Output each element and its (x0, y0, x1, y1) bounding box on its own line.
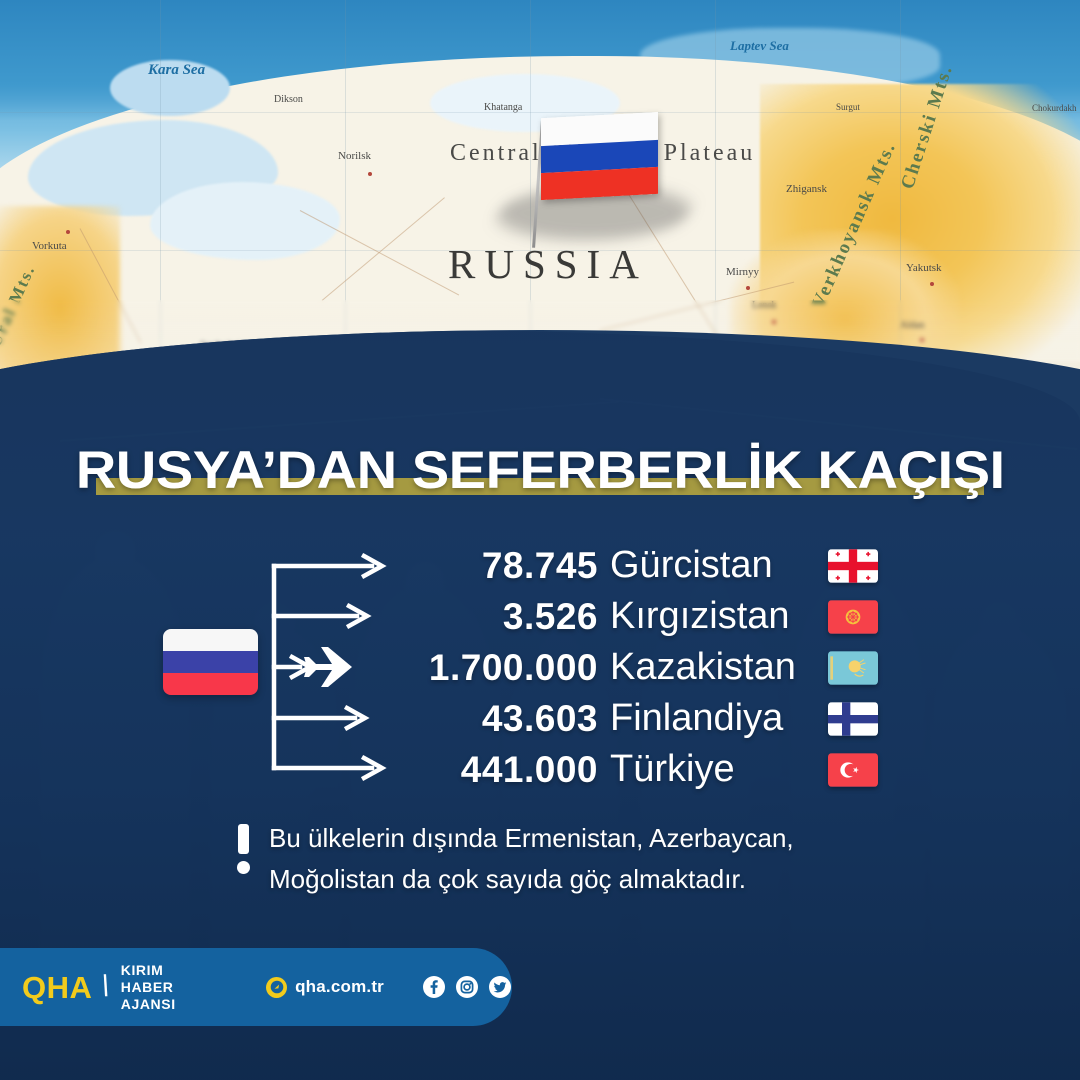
map-city-dot (746, 286, 750, 290)
russia-flag-pin-icon (541, 112, 658, 200)
map-gridline (0, 112, 1080, 113)
row-country: Kırgızistan (610, 595, 790, 638)
map-label-chokurdakh: Chokurdakh (1032, 103, 1077, 113)
agency-line-1: KIRIM (121, 962, 222, 979)
row-value: 3.526 (503, 596, 598, 638)
map-city-dot (66, 230, 70, 234)
map-city-dot (368, 172, 372, 176)
map-label-laptev-sea: Laptev Sea (730, 38, 789, 54)
page-title: RUSYA’DAN SEFERBERLİK KAÇIŞI (76, 440, 1005, 501)
map-label-norilsk: Norilsk (338, 150, 371, 162)
table-row: 78.745 Gürcistan (0, 540, 1080, 591)
turkey-flag-icon (828, 753, 878, 787)
instagram-icon[interactable] (455, 975, 479, 999)
map-label-mirnyy: Mirnyy (726, 266, 759, 278)
finland-flag-icon (828, 702, 878, 736)
georgia-flag-icon (828, 549, 878, 583)
map-label-vorkuta: Vorkuta (32, 240, 67, 252)
agency-line-2: HABER AJANSI (121, 979, 222, 1013)
row-value: 1.700.000 (429, 647, 598, 689)
row-value: 441.000 (461, 749, 598, 791)
country-rows: 78.745 Gürcistan 3.526 Kırgızist (0, 540, 1080, 795)
website-text: qha.com.tr (295, 977, 384, 997)
sea-inlet-2 (150, 182, 340, 260)
social-links (422, 975, 512, 999)
map-label-khatanga: Khatanga (484, 102, 522, 113)
title-block: RUSYA’DAN SEFERBERLİK KAÇIŞI (0, 440, 1080, 501)
row-value: 78.745 (482, 545, 598, 587)
globe-arrow-icon (266, 977, 287, 998)
map-label-russia: RUSSIA (448, 240, 648, 288)
map-label-zhigansk: Zhigansk (786, 183, 827, 195)
table-row: 441.000 Türkiye (0, 744, 1080, 795)
row-value: 43.603 (482, 698, 598, 740)
table-row: 43.603 Finlandiya (0, 693, 1080, 744)
map-label-dikson: Dikson (274, 94, 303, 105)
agency-name: KIRIM HABER AJANSI (121, 962, 222, 1013)
row-country: Finlandiya (610, 697, 783, 740)
twitter-icon[interactable] (488, 975, 512, 999)
qha-logo[interactable]: QHA (22, 972, 92, 1003)
map-label-srednekolymsk: Surgut (836, 102, 860, 112)
row-country: Gürcistan (610, 544, 773, 587)
footnote-line-1: Bu ülkelerin dışında Ermenistan, Azerbay… (269, 818, 936, 859)
map-city-dot (930, 282, 934, 286)
footnote-block: Bu ülkelerin dışında Ermenistan, Azerbay… (236, 818, 936, 900)
table-row: 3.526 Kırgızistan (0, 591, 1080, 642)
row-country: Kazakistan (610, 646, 796, 689)
map-label-kara-sea: Kara Sea (148, 62, 205, 79)
row-country: Türkiye (610, 748, 735, 791)
facebook-icon[interactable] (422, 975, 446, 999)
logo-divider: \ (98, 970, 114, 1004)
map-label-yakutsk: Yakutsk (906, 262, 942, 274)
footnote-line-2: Moğolistan da çok sayıda göç almaktadır. (269, 859, 936, 900)
kyrgyzstan-flag-icon (828, 600, 878, 634)
infographic-root: Kara Sea Laptev Sea Norilsk Vorkuta Diks… (0, 0, 1080, 1080)
kazakhstan-flag-icon (828, 651, 878, 685)
footer-bar: QHA \ KIRIM HABER AJANSI qha.com.tr (0, 948, 512, 1026)
website-link[interactable]: qha.com.tr (266, 977, 384, 998)
exclamation-icon (236, 824, 250, 874)
table-row: 1.700.000 Kazakistan (0, 642, 1080, 693)
